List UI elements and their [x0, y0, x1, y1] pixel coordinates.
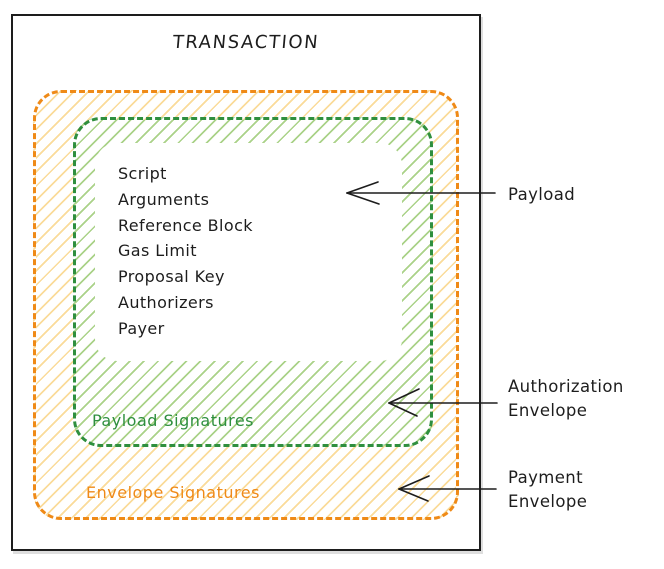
list-item: Authorizers — [118, 290, 253, 316]
callout-payload-label: Payload — [508, 183, 575, 207]
list-item: Reference Block — [118, 213, 253, 239]
callout-line: Authorization — [508, 375, 624, 399]
callout-line: Payment — [508, 466, 587, 490]
page-title: TRANSACTION — [10, 32, 482, 53]
diagram-canvas: TRANSACTION Script Arguments Reference B… — [0, 0, 664, 569]
callout-line: Envelope — [508, 399, 624, 423]
envelope-signatures-label: Envelope Signatures — [86, 483, 260, 502]
list-item: Script — [118, 161, 253, 187]
payload-signatures-label: Payload Signatures — [92, 411, 254, 430]
callout-line: Envelope — [508, 490, 587, 514]
list-item: Arguments — [118, 187, 253, 213]
list-item: Proposal Key — [118, 264, 253, 290]
list-item: Payer — [118, 316, 253, 342]
list-item: Gas Limit — [118, 238, 253, 264]
callout-authorization-envelope-label: Authorization Envelope — [508, 375, 624, 423]
payload-field-list: Script Arguments Reference Block Gas Lim… — [118, 161, 253, 342]
callout-payment-envelope-label: Payment Envelope — [508, 466, 587, 514]
